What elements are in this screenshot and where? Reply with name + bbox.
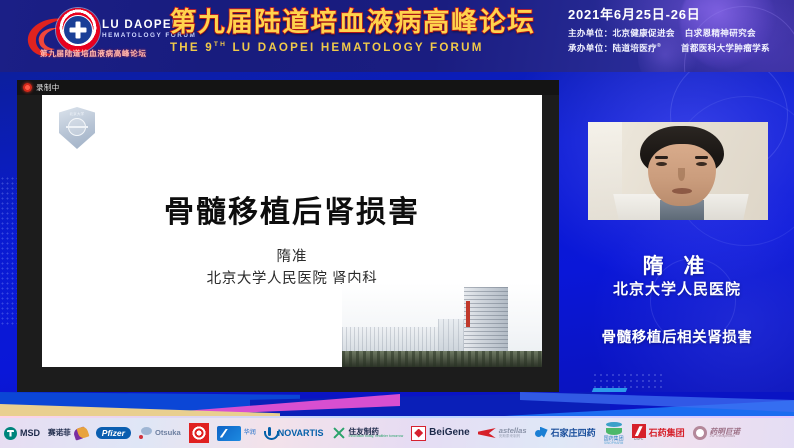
sponsor-beigene[interactable]: BeiGene	[407, 426, 474, 441]
logo-cn-line: 第九届陆道培血液病高峰论坛	[40, 50, 147, 58]
sponsor-logo-bar: MSD 赛诺菲 Pfizer Otsuka 华润 NOVARTIS 住友	[0, 418, 794, 448]
speaker-eye-left	[656, 162, 667, 166]
beigene-logo-icon	[411, 426, 426, 441]
sponsor-cspc[interactable]: CSPC 石药集团	[628, 424, 689, 441]
speaker-topic: 骨髓移植后相关肾损害	[560, 326, 794, 347]
blue-swoosh-logo-icon	[217, 426, 241, 441]
event-info-block: 2021年6月25日-26日 主办单位：北京健康促进会白求恩精神研究会 承办单位…	[568, 8, 790, 54]
sponsor-blue-mark[interactable]: 华润	[213, 426, 260, 441]
otsuka-logo-icon	[139, 427, 152, 439]
recording-status-bar: 录制中	[17, 80, 559, 95]
hospital-building-photo	[342, 283, 542, 367]
sponsor-name: NOVARTIS	[278, 429, 324, 438]
sponsor-sub-name: 安斯泰来制药	[499, 435, 527, 439]
event-title-chinese: 第九届陆道培血液病高峰论坛	[170, 8, 552, 37]
sponsor-sub-name: SINOPHARM	[604, 442, 623, 445]
title-en-post: LU DAOPEI HEMATOLOGY FORUM	[227, 41, 484, 54]
sponsor-astellas[interactable]: astellas 安斯泰来制药	[474, 427, 531, 439]
sponsor-novartis[interactable]: NOVARTIS	[260, 427, 328, 440]
speaker-nose	[678, 168, 685, 181]
speaker-organization: 北京大学人民医院	[560, 278, 794, 299]
recording-indicator-icon	[23, 83, 32, 92]
slide-content: 北京大学 骨髓移植后肾损害 隋准 北京大学人民医院 肾内科	[42, 95, 542, 367]
sponsor-name: MSD	[20, 429, 40, 438]
sponsor-msd[interactable]: MSD	[0, 427, 44, 440]
sponsor-name: 华润	[244, 430, 256, 436]
sponsor-sinopharm[interactable]: 国药集团 SINOPHARM	[600, 421, 628, 445]
msd-logo-icon	[4, 427, 17, 440]
cspc-logo-icon	[632, 424, 646, 438]
pfizer-logo-icon: Pfizer	[96, 427, 131, 440]
event-organizer-line: 承办单位：陆道培医疗®首都医科大学肿瘤学系	[568, 43, 790, 53]
sponsor-pfizer[interactable]: Pfizer	[92, 427, 135, 440]
sumitomo-logo-icon	[332, 426, 346, 440]
event-header-banner: LU DAOPEI HEMATOLOGY FORUM 第九届陆道培血液病高峰论坛…	[0, 0, 794, 72]
red-circle-logo-icon	[189, 423, 209, 443]
sponsor-otsuka[interactable]: Otsuka	[135, 427, 185, 439]
novartis-logo-icon	[264, 427, 275, 440]
organizer-registered-mark: ®	[657, 43, 661, 49]
event-date: 2021年6月25日-26日	[568, 8, 790, 23]
sponsor-jwtherapeutics[interactable]: 药明巨诺 JW Therapeutics	[689, 426, 744, 440]
medical-cross-icon	[70, 22, 87, 39]
sponsor-name: BeiGene	[429, 428, 470, 438]
shijiazhuang-logo-icon	[535, 427, 548, 440]
title-en-ordinal: TH	[214, 41, 227, 48]
title-en-pre: THE 9	[170, 41, 214, 54]
sinopharm-logo-icon	[606, 421, 622, 437]
sponsor-name: Otsuka	[155, 429, 181, 437]
recording-status-label: 录制中	[36, 84, 60, 92]
event-host-line: 主办单位：北京健康促进会白求恩精神研究会	[568, 28, 790, 38]
university-emblem-icon: 北京大学	[59, 107, 95, 149]
event-title-block: 第九届陆道培血液病高峰论坛 THE 9TH LU DAOPEI HEMATOLO…	[170, 8, 552, 54]
emblem-text: 北京大学	[59, 111, 95, 116]
astellas-logo-icon	[478, 427, 496, 439]
forum-logo: LU DAOPEI HEMATOLOGY FORUM 第九届陆道培血液病高峰论坛	[22, 6, 168, 64]
host-second: 白求恩精神研究会	[685, 28, 756, 38]
photo-tower-building	[464, 287, 508, 353]
slide-presenter-name: 隋准	[42, 245, 542, 266]
sponsor-sub-name: JW Therapeutics	[710, 435, 740, 438]
organizer-second: 首都医科大学肿瘤学系	[681, 43, 770, 53]
sponsor-sumitomo[interactable]: 住友制药 Innovation today, healthier tomorro…	[328, 426, 408, 440]
event-title-english: THE 9TH LU DAOPEI HEMATOLOGY FORUM	[170, 41, 552, 54]
photo-tower-signage	[466, 301, 470, 327]
speaker-eyebrow-left	[655, 156, 668, 159]
forum-badge-emblem	[56, 8, 100, 52]
sponsor-red-mark[interactable]	[185, 423, 213, 443]
sanofi-logo-icon	[74, 427, 88, 440]
jwtherapeutics-logo-icon	[693, 426, 707, 440]
slide-title: 骨髓移植后肾损害	[42, 187, 542, 231]
organizer-label: 承办单位：陆道培医疗	[568, 43, 657, 53]
presentation-panel[interactable]: 录制中 北京大学 骨髓移植后肾损害 隋准 北京大学人民医院 肾内科	[17, 80, 559, 392]
speaker-eyebrow-right	[695, 156, 708, 159]
badge-inner-disc	[63, 15, 93, 45]
sponsor-name: 石药集团	[649, 429, 685, 438]
photo-tree-line	[342, 351, 542, 367]
emblem-bar	[66, 126, 88, 128]
broadcast-screen: LU DAOPEI HEMATOLOGY FORUM 第九届陆道培血液病高峰论坛…	[0, 0, 794, 448]
decorative-angle-strip	[0, 392, 794, 420]
speaker-eye-right	[696, 162, 707, 166]
sponsor-tagline: Innovation today, healthier tomorrow	[349, 435, 404, 438]
sponsor-shijiazhuang[interactable]: 石家庄四药	[531, 427, 600, 440]
sponsor-name: 赛诺菲	[48, 429, 71, 437]
sponsor-sub-name: CSPC	[634, 438, 643, 441]
speaker-video-feed[interactable]	[588, 122, 768, 220]
speaker-name: 隋 准	[560, 250, 794, 280]
sponsor-name: 石家庄四药	[551, 429, 596, 438]
speaker-mouth	[672, 188, 692, 194]
sponsor-sanofi[interactable]: 赛诺菲	[44, 427, 92, 440]
host-label: 主办单位：北京健康促进会	[568, 28, 675, 38]
logo-en-line1: LU DAOPEI	[102, 20, 176, 32]
